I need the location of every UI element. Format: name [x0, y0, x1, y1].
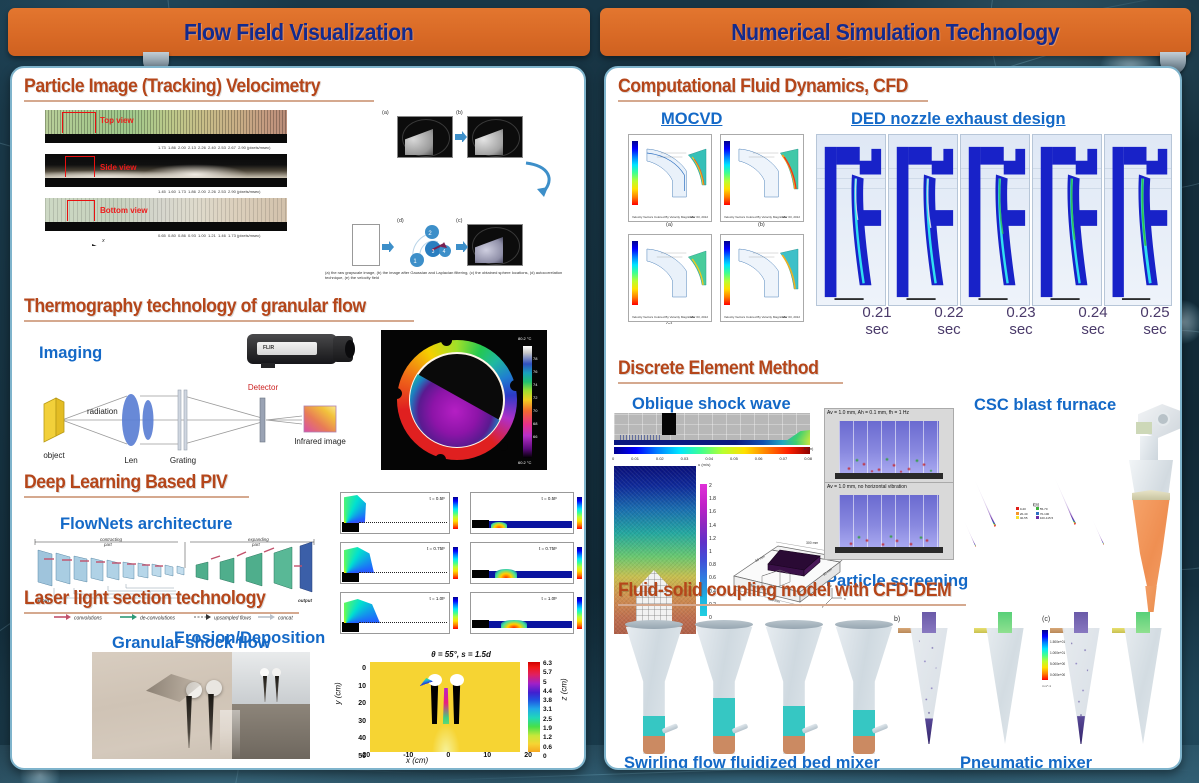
piv-bottom-view-black-bar — [45, 222, 287, 231]
section-rule-cfd-dem — [618, 604, 966, 606]
left-content-panel: Particle Image (Tracking) Velocimetry To… — [10, 66, 586, 770]
piv-workflow-arrow-dc-icon — [456, 240, 468, 252]
svg-text:Grating: Grating — [170, 456, 196, 465]
ded-time-value: 0.24 — [1078, 304, 1107, 321]
svg-text:convolutions: convolutions — [74, 616, 102, 622]
section-title-cfd: Computational Fluid Dynamics, CFD — [618, 76, 908, 98]
section-rule-thermography — [24, 320, 414, 322]
granular-shock-heatmap-chart: θ = 55°, s = 1.5d y (cm) x (cm) 01020304… — [308, 648, 578, 766]
section-rule-laser-light-section — [24, 612, 299, 614]
cone-inlet-pipe — [1112, 628, 1126, 633]
ded-time-unit: sec — [1009, 321, 1032, 338]
ded-time-value: 0.25 — [1140, 304, 1169, 321]
cone-neck — [922, 612, 937, 633]
csc-blast-furnace-figure: 粒径 0-20 55-70 20-40 70-100 40-55 100-115… — [958, 418, 1128, 560]
section-title-deep-learning-piv: Deep Learning Based PIV — [24, 472, 227, 494]
ded-time-unit: sec — [1081, 321, 1104, 338]
right-content-panel: Computational Fluid Dynamics, CFD MOCVD … — [604, 66, 1182, 770]
piv-workflow-image-c — [467, 224, 523, 266]
header-title-right: Numerical Simulation Technology — [731, 19, 1059, 46]
deposition-plot: t = 0.75tᶜ — [470, 542, 574, 584]
mocvd-plot: Velocity Vectors Colored By Velocity Mag… — [628, 234, 712, 322]
mocvd-plot: Velocity Vectors Colored By Velocity Mag… — [720, 234, 804, 322]
ded-time-label: 0.23 sec — [996, 304, 1046, 338]
oblique-shock-wave-strip — [614, 413, 810, 445]
section-rule-deep-learning-piv — [24, 496, 249, 498]
cone-inlet-pipe — [898, 628, 912, 633]
pneumatic-mixer-geometry — [974, 628, 1036, 744]
blast-furnace-cone-small-right — [1088, 504, 1120, 546]
piv-bottom-view-measure-bracket — [67, 200, 95, 221]
svg-text:upsampled flows: upsampled flows — [214, 616, 252, 622]
imaging-optical-diagram: object radiation Len Grating Detector In… — [32, 368, 352, 473]
heatmap-ylabel: y (cm) — [334, 682, 343, 704]
heatmap-colorbar-label: z (cm) — [560, 678, 569, 700]
oblique-shock-colorbar-ticks: 00.010.020.030.040.050.060.070.08 — [612, 456, 812, 461]
ded-time-value: 0.21 — [862, 304, 891, 321]
thermography-disk-image: 80.2 °C 60.2 °C 78767472706866 — [381, 330, 547, 470]
mixer-fluid-level — [783, 706, 805, 736]
mocvd-tag-b: (b) — [758, 222, 765, 228]
swirling-mixer — [834, 620, 894, 754]
section-rule-piv — [24, 100, 374, 102]
subtitle-ded-nozzle: DED nozzle exhaust design — [851, 110, 1066, 129]
piv-workflow-arrow-ab-icon — [455, 130, 467, 142]
erosion-colorbar — [453, 597, 458, 629]
heatmap-colorbar — [528, 662, 540, 752]
cone-neck — [1074, 612, 1089, 633]
ded-nozzle-frame — [1032, 134, 1102, 306]
mocvd-colorbar — [724, 141, 730, 205]
piv-top-view-label: Top view — [100, 116, 134, 125]
ded-time-value: 0.23 — [1006, 304, 1035, 321]
deposition-colorbar — [577, 547, 582, 579]
deposition-time-label: t = 0.5tᶜ — [542, 496, 557, 501]
caption-pneumatic-mixer: Pneumatic mixer — [960, 754, 1092, 770]
piv-side-view-measure-bracket — [65, 156, 95, 177]
ded-time-unit: sec — [865, 321, 888, 338]
ded-time-unit: sec — [1143, 321, 1166, 338]
mocvd-tag-a: (a) — [666, 222, 673, 228]
swirling-mixer — [624, 620, 684, 754]
svg-text:4: 4 — [443, 249, 446, 255]
thermal-scale-bottom: 60.2 °C — [518, 460, 531, 465]
ded-time-unit: sec — [937, 321, 960, 338]
cone-body — [974, 628, 1036, 744]
blast-furnace-cone-small-left — [960, 506, 992, 548]
mixer-solids-bed — [783, 736, 805, 754]
swirling-mixer — [764, 620, 824, 754]
heatmap-colorbar-ticks: 6.35.754.43.83.12.51.91.20.60 — [543, 659, 552, 761]
piv-x-axis-label: x — [102, 238, 105, 244]
erosion-time-label: t = 1.0tᶜ — [430, 596, 445, 601]
erosion-colorbar — [453, 547, 458, 579]
ded-nozzle-frame — [1104, 134, 1172, 306]
ded-nozzle-frames — [816, 134, 1172, 306]
ded-time-label: 0.24 sec — [1068, 304, 1118, 338]
piv-workflow-velocity-field-box — [352, 224, 380, 266]
svg-text:300 mm: 300 mm — [806, 541, 818, 545]
erosion-plot: t = 0.75tᶜ — [340, 542, 450, 584]
svg-text:part: part — [103, 542, 113, 547]
granular-shock-flow-photo — [92, 652, 310, 759]
mixer-solids-bed — [713, 736, 735, 754]
ded-time-value: 0.22 — [934, 304, 963, 321]
piv-side-view-label: Side view — [100, 163, 136, 172]
piv-workflow-arrow-curve-icon — [524, 160, 558, 198]
mocvd-figure-grid: Velocity Vectors Colored By Velocity Mag… — [628, 134, 808, 324]
header-flow-field-visualization: Flow Field Visualization — [8, 8, 590, 56]
cone-neck — [1136, 612, 1151, 633]
subtitle-mocvd: MOCVD — [661, 110, 722, 129]
deposition-colorbar — [577, 497, 582, 529]
piv-workflow-tag-b: (b) — [456, 110, 463, 116]
deposition-plot: t = 1.0tᶜ — [470, 592, 574, 634]
svg-text:concat: concat — [278, 616, 293, 622]
particle-screening-panel: Av = 1.0 mm, no horizontal vibration — [824, 482, 954, 560]
cone-neck — [998, 612, 1013, 633]
section-title-laser-light-section: Laser light section technology — [24, 588, 265, 610]
caption-swirling-flow-fluidized-bed-mixer: Swirling flow fluidized bed mixer — [624, 754, 880, 770]
oblique-shock-colorbar-label: u (m/s) — [698, 462, 710, 467]
piv-strip-bottom-view: Bottom view — [45, 198, 287, 231]
mocvd-plot: Velocity Vectors Colored By Velocity Mag… — [720, 134, 804, 222]
piv-strip-side-view: Side view — [45, 154, 287, 187]
mixer-lid — [625, 620, 683, 629]
heatmap-xticks: -20-1001020 — [360, 752, 532, 759]
piv-workflow-tag-d: (d) — [397, 218, 404, 224]
header-title-left: Flow Field Visualization — [184, 19, 413, 46]
heatmap-chart-title: θ = 55°, s = 1.5d — [386, 650, 536, 659]
cone-inlet-pipe — [974, 628, 988, 633]
ded-time-label: 0.22 sec — [924, 304, 974, 338]
section-title-dem: Discrete Element Method — [618, 358, 818, 380]
mocvd-colorbar — [632, 141, 638, 205]
subtitle-csc-blast-furnace: CSC blast furnace — [974, 396, 1116, 415]
piv-workflow-caption: (a) the raw grayscale image, (b) the ima… — [325, 270, 565, 281]
blast-furnace-hopper-render — [1118, 404, 1182, 626]
piv-workflow-image-a — [397, 116, 453, 158]
swirling-mixer — [694, 620, 754, 754]
piv-bottom-view-ticks: 0.65 0.80 0.86 0.93 1.00 1.21 1.46 1.73 … — [158, 233, 261, 238]
cone-body — [1112, 628, 1174, 744]
svg-text:Len: Len — [124, 456, 137, 465]
svg-text:output: output — [298, 598, 312, 603]
pneumatic-mixer-particles — [1050, 628, 1112, 744]
heatmap-plot-area — [370, 662, 520, 752]
subtitle-granular-shock-flow: Granular shock flow — [112, 634, 271, 653]
svg-text:object: object — [43, 451, 65, 460]
thermal-notch-icon — [510, 380, 518, 391]
piv-workflow-autocorrelation-diagram: 2 1 4 3 — [404, 224, 456, 268]
deposition-plot: t = 0.5tᶜ — [470, 492, 574, 534]
piv-side-view-ticks: 1.45 1.60 1.73 1.86 2.00 2.26 2.53 2.90 … — [158, 189, 261, 194]
oblique-shock-axis-label: h (m) — [804, 446, 813, 451]
mocvd-plot: Velocity Vectors Colored By Velocity Mag… — [628, 134, 712, 222]
ded-nozzle-frame — [888, 134, 958, 306]
thermal-colorbar — [523, 346, 532, 458]
mixer-solids-bed — [853, 736, 875, 754]
blast-furnace-legend: 粒径 0-20 55-70 20-40 70-100 40-55 100-115… — [1016, 502, 1056, 524]
header-numerical-simulation-technology: Numerical Simulation Technology — [600, 8, 1191, 56]
svg-text:radiation: radiation — [87, 407, 118, 416]
mixer-lid — [835, 620, 893, 629]
deposition-time-label: t = 0.75tᶜ — [539, 546, 557, 551]
erosion-time-label: t = 0.5tᶜ — [430, 496, 445, 501]
piv-workflow-image-b — [467, 116, 523, 158]
piv-strip-top-view: Top view — [45, 110, 287, 143]
thermal-flow-region — [410, 353, 504, 447]
piv-workflow-arrow-ed-icon — [382, 240, 394, 252]
mocvd-colorbar — [632, 241, 638, 305]
screening-condition-label-2: Av = 1.0 mm, no horizontal vibration — [827, 484, 907, 490]
mixer-fluid-level — [643, 716, 665, 736]
erosion-plot: t = 0.5tᶜ — [340, 492, 450, 534]
deposition-time-label: t = 1.0tᶜ — [542, 596, 557, 601]
flir-brand-label: FLIR — [263, 345, 274, 351]
pneumatic-colorbar — [1042, 630, 1048, 680]
thermal-scale-top: 80.2 °C — [518, 336, 531, 341]
section-title-thermography: Thermography technology of granular flow — [24, 296, 366, 318]
pneumatic-mixer-geometry — [1112, 628, 1174, 744]
mocvd-tag-c: (c) — [666, 322, 672, 324]
piv-side-view-black-bar — [45, 178, 287, 187]
flir-camera-image: FLIR — [247, 330, 355, 372]
erosion-time-label: t = 0.75tᶜ — [427, 546, 445, 551]
section-rule-dem — [618, 382, 843, 384]
mixer-lid — [695, 620, 753, 629]
pneumatic-panel-tag-b: b) — [894, 616, 900, 623]
piv-bottom-view-label: Bottom view — [100, 206, 148, 215]
pneumatic-mixer-particles — [898, 628, 960, 744]
piv-top-view-black-bar — [45, 134, 287, 143]
piv-top-view-measure-bracket — [62, 112, 96, 133]
mixer-fluid-level — [853, 710, 875, 736]
piv-top-view-ticks: 1.73 1.86 2.00 2.13 2.26 2.40 2.53 2.67 … — [158, 145, 271, 150]
oblique-shock-vertical-field — [614, 466, 696, 634]
ded-nozzle-frame — [816, 134, 886, 306]
erosion-colorbar — [453, 497, 458, 529]
svg-text:3: 3 — [432, 249, 435, 255]
deposition-colorbar — [577, 597, 582, 629]
thermal-notch-icon — [499, 442, 508, 451]
thermal-scale-ticks: 78767472706866 — [533, 352, 537, 443]
heatmap-yticks: 01020304050 — [348, 660, 366, 766]
subtitle-flownets-architecture: FlowNets architecture — [60, 515, 232, 534]
subtitle-oblique-shock-wave: Oblique shock wave — [632, 395, 791, 414]
svg-text:Infrared image: Infrared image — [294, 437, 346, 446]
mixer-lid — [765, 620, 823, 629]
piv-x-axis-arrow-icon — [56, 238, 100, 246]
oblique-shock-colorbar — [614, 447, 810, 454]
mixer-solids-bed — [643, 736, 665, 754]
thermal-notch-icon — [435, 454, 446, 461]
svg-text:part: part — [251, 542, 261, 547]
ded-time-label: 0.21 sec — [852, 304, 902, 338]
piv-workflow-tag-a: (a) — [382, 110, 389, 116]
screening-condition-label-1: Av = 1.0 mm, Ah = 0.1 mm, fh = 1 Hz — [827, 410, 909, 416]
section-title-piv: Particle Image (Tracking) Velocimetry — [24, 76, 320, 98]
piv-workflow-tag-c: (c) — [456, 218, 462, 224]
ded-time-label: 0.25 sec — [1130, 304, 1180, 338]
section-title-cfd-dem: Fluid-solid coupling model with CFD-DEM — [618, 580, 951, 602]
erosion-deposition-plots: t = 0.5tᶜ t = 0.75tᶜ t = 1.0tᶜ t = 0.5tᶜ — [334, 486, 586, 638]
ded-nozzle-frame — [960, 134, 1030, 306]
svg-text:Detector: Detector — [248, 383, 279, 392]
svg-text:de-convolutions: de-convolutions — [140, 616, 176, 622]
pneumatic-panel-tag-c: (c) — [1042, 616, 1050, 623]
cone-inlet-pipe — [1050, 628, 1064, 633]
mocvd-colorbar — [724, 241, 730, 305]
subtitle-imaging: Imaging — [39, 344, 102, 363]
section-rule-cfd — [618, 100, 928, 102]
erosion-plot: t = 1.0tᶜ — [340, 592, 450, 634]
particle-screening-panel: Av = 1.0 mm, Ah = 0.1 mm, fh = 1 Hz — [824, 408, 954, 486]
